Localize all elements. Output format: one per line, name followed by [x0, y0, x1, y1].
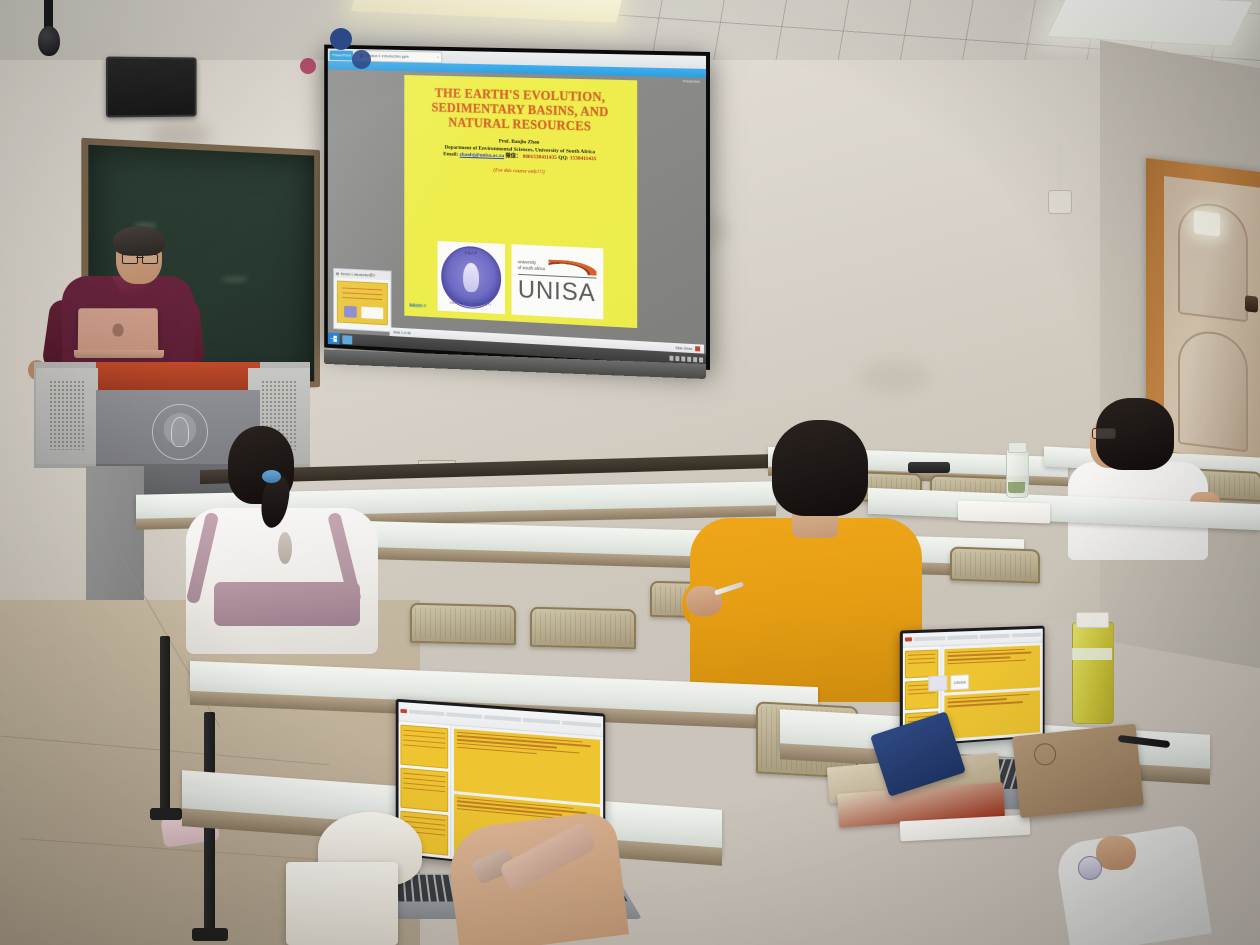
lecture-hall-photo: PowerPoint Section 1 Introduction.pptx ×… [0, 0, 1260, 945]
tab-document-label: Section 1 Introduction.pptx [365, 53, 408, 59]
shirt-flower-2 [352, 50, 371, 69]
bottle-cap-icon [1008, 442, 1027, 453]
taskbar-app-icon[interactable] [342, 335, 352, 344]
slide-presenter-block: Prof. Baojin Zhao Department of Environm… [408, 136, 633, 180]
mini-seu-logo-icon [929, 675, 948, 691]
camera-mount-pole [1057, 143, 1062, 197]
presenter-macbook-base [74, 350, 164, 358]
presenter-label: Presenter [683, 78, 700, 83]
slide-content: THE EARTH'S EVOLUTION, SEDIMENTARY BASIN… [404, 75, 637, 328]
seal-en-text: SOUTHEAST UNIVERSITY [442, 300, 500, 307]
close-icon[interactable]: × [437, 54, 439, 59]
status-slide-count: Slide 1 of 48 [393, 330, 410, 335]
slide-title: THE EARTH'S EVOLUTION, SEDIMENTARY BASIN… [411, 85, 631, 135]
wechat-label: 微信： [505, 154, 521, 160]
student-yellow-torso [690, 518, 922, 702]
desk-foot-left-back [150, 808, 182, 820]
windows-start-icon[interactable] [328, 332, 340, 344]
apple-logo-icon [112, 324, 123, 337]
podium-top-trim [96, 362, 260, 392]
powerpoint-icon-front [400, 709, 407, 713]
seat-row3-1[interactable] [410, 603, 516, 646]
sleeve-patch-icon [1078, 856, 1102, 880]
desk-foot-left [192, 928, 228, 941]
slide-footnote: (For this course only!!!) [408, 164, 633, 179]
laptop-right-slide-area[interactable]: UNISA [941, 642, 1042, 742]
tea-leaves [1008, 482, 1025, 493]
presenter-macbook[interactable] [78, 308, 159, 352]
professor-glasses-icon [122, 254, 158, 262]
email-label: Email: [443, 152, 458, 158]
unisa-logo-icon: university of south africa UNISA 南非比加大学 [511, 244, 603, 319]
yellow-tea-bottle[interactable] [1072, 622, 1114, 724]
crossbody-bag [214, 582, 360, 626]
blue-scrunchie [262, 470, 281, 483]
seal-cn-text: 东南大学 [442, 249, 500, 256]
system-tray[interactable] [670, 355, 707, 362]
student-yellow-hair [772, 420, 868, 516]
status-mode-label: Slide Show [675, 346, 692, 351]
podium-university-seal-icon [152, 404, 208, 460]
laptop-right-mini-logos: UNISA [929, 674, 970, 691]
wechat-value: 8801538411435 [523, 154, 557, 161]
slide-logo-row: 东南大学 SOUTHEAST UNIVERSITY 东南大学 universit… [404, 240, 637, 322]
bottle-label [1072, 648, 1112, 660]
loose-papers[interactable] [958, 500, 1050, 523]
black-wall-display [106, 57, 197, 118]
projection-screen: PowerPoint Section 1 Introduction.pptx ×… [324, 45, 710, 370]
email-value[interactable]: zhaobj@unisa.ac.za [460, 152, 505, 159]
powerpoint-icon-right [904, 637, 911, 641]
seat-row3-4[interactable] [950, 546, 1040, 583]
explorer-title: Section 1 Introduction简介 [341, 271, 376, 277]
shirt-flower-1 [330, 28, 352, 50]
folder-icon: ▤ [336, 271, 339, 275]
unisa-wordmark: UNISA [514, 276, 600, 306]
qq-label: QQ: [558, 155, 568, 161]
student-glasses-icon [1092, 428, 1116, 439]
desk-leg-left-back [160, 636, 170, 816]
shirt-flower-3 [300, 58, 316, 74]
qq-value: 1538411435 [570, 156, 597, 163]
podium-speaker-left [36, 368, 98, 464]
tissue-box[interactable] [286, 862, 398, 945]
door-window-reflection [1194, 210, 1220, 236]
blouse-keyhole-detail [278, 532, 292, 564]
professor-hair [113, 226, 165, 256]
yellow-bottle-cap-icon [1076, 612, 1109, 628]
remote-control[interactable] [908, 462, 950, 473]
door-handle-icon[interactable] [1245, 295, 1258, 313]
notebook-emblem-icon [1033, 742, 1057, 766]
unisa-swoosh-icon [549, 259, 596, 275]
file-explorer-panel[interactable]: ▤ Section 1 Introduction简介 [333, 268, 391, 332]
logo-right-caption: 南非比加大学 [409, 302, 427, 308]
unisa-line-2: of south africa [518, 265, 545, 272]
mini-unisa-logo-icon: UNISA [951, 674, 970, 690]
seat-row3-2[interactable] [530, 607, 636, 650]
slide-thumbnail[interactable] [337, 281, 388, 326]
tab-powerpoint[interactable]: PowerPoint [330, 50, 354, 60]
hanging-lamp-icon [38, 26, 60, 56]
security-camera-icon [1048, 190, 1072, 214]
student-gray-jacket-hand [1096, 836, 1136, 870]
southeast-university-seal-icon: 东南大学 SOUTHEAST UNIVERSITY 东南大学 [437, 241, 504, 314]
explorer-title-bar: ▤ Section 1 Introduction简介 [334, 269, 390, 280]
slideshow-icon[interactable] [695, 346, 700, 351]
